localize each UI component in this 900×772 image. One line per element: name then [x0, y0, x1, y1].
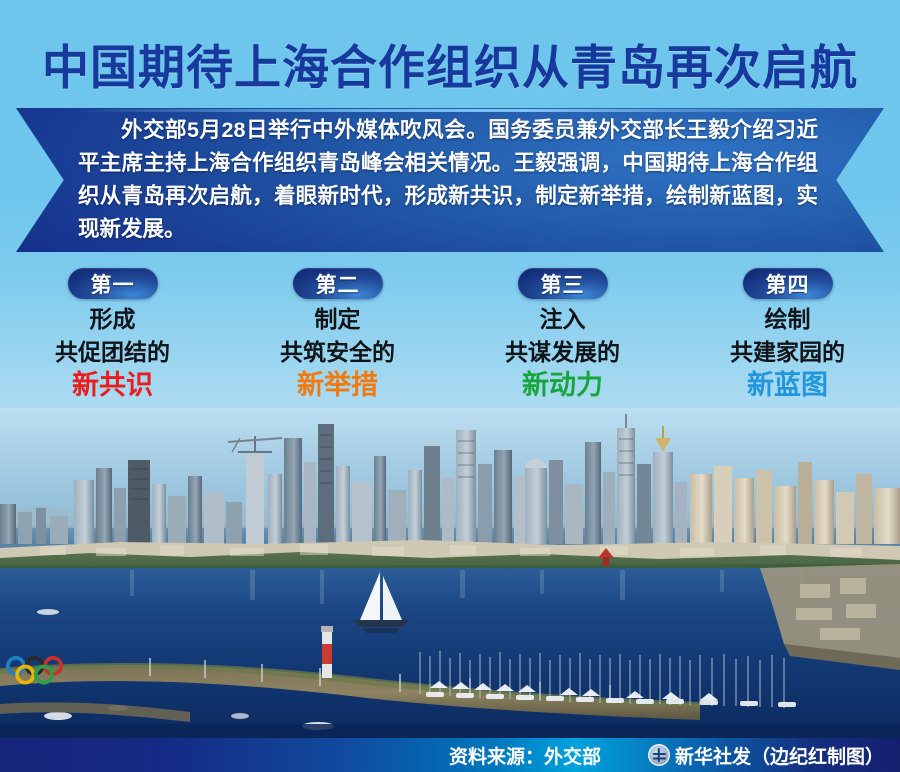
point-line1-4: 绘制: [765, 305, 811, 334]
key-point-1: 第一 形成 共促团结的 新共识: [0, 268, 225, 410]
key-point-4: 第四 绘制 共建家园的 新蓝图: [675, 268, 900, 410]
point-keyword-2: 新举措: [297, 369, 378, 402]
key-point-2: 第二 制定 共筑安全的 新举措: [225, 268, 450, 410]
footer-source: 资料来源：外交部: [449, 738, 601, 772]
point-line1-1: 形成: [90, 305, 136, 334]
point-badge-2: 第二: [293, 268, 383, 299]
point-keyword-1: 新共识: [72, 369, 153, 402]
summary-banner: 外交部5月28日举行中外媒体吹风会。国务委员兼外交部长王毅介绍习近平主席主持上海…: [16, 108, 884, 252]
point-line2-2: 共筑安全的: [280, 338, 395, 367]
point-line1-2: 制定: [315, 305, 361, 334]
point-keyword-3: 新动力: [522, 369, 603, 402]
page-title: 中国期待上海合作组织从青岛再次启航: [0, 28, 900, 98]
key-points-row: 第一 形成 共促团结的 新共识 第二 制定 共筑安全的 新举措 第三 注入 共谋…: [0, 268, 900, 410]
xinhua-logo-icon: [648, 744, 670, 766]
lighthouse: [321, 626, 333, 678]
point-line2-4: 共建家园的: [730, 338, 845, 367]
point-keyword-4: 新蓝图: [747, 369, 828, 402]
point-line1-3: 注入: [540, 305, 586, 334]
banner-content: 外交部5月28日举行中外媒体吹风会。国务委员兼外交部长王毅介绍习近平主席主持上海…: [16, 108, 884, 252]
point-badge-4: 第四: [743, 268, 833, 299]
point-line2-3: 共谋发展的: [505, 338, 620, 367]
footer-credit-group: 新华社发（边纪红制图）: [648, 738, 884, 772]
banner-paragraph: 外交部5月28日举行中外媒体吹风会。国务委员兼外交部长王毅介绍习近平主席主持上海…: [78, 114, 818, 246]
qingdao-photo: [0, 408, 900, 738]
point-badge-1: 第一: [68, 268, 158, 299]
infographic-poster: 中国期待上海合作组织从青岛再次启航 外交部5月28日举行中外媒体吹风会。国务委员…: [0, 0, 900, 772]
point-line2-1: 共促团结的: [55, 338, 170, 367]
qingdao-photo-illustration: [0, 408, 900, 738]
footer-bar: 资料来源：外交部 新华社发（边纪红制图）: [0, 738, 900, 772]
key-point-3: 第三 注入 共谋发展的 新动力: [450, 268, 675, 410]
footer-credit-text: 新华社发（边纪红制图）: [675, 742, 884, 769]
point-badge-3: 第三: [518, 268, 608, 299]
